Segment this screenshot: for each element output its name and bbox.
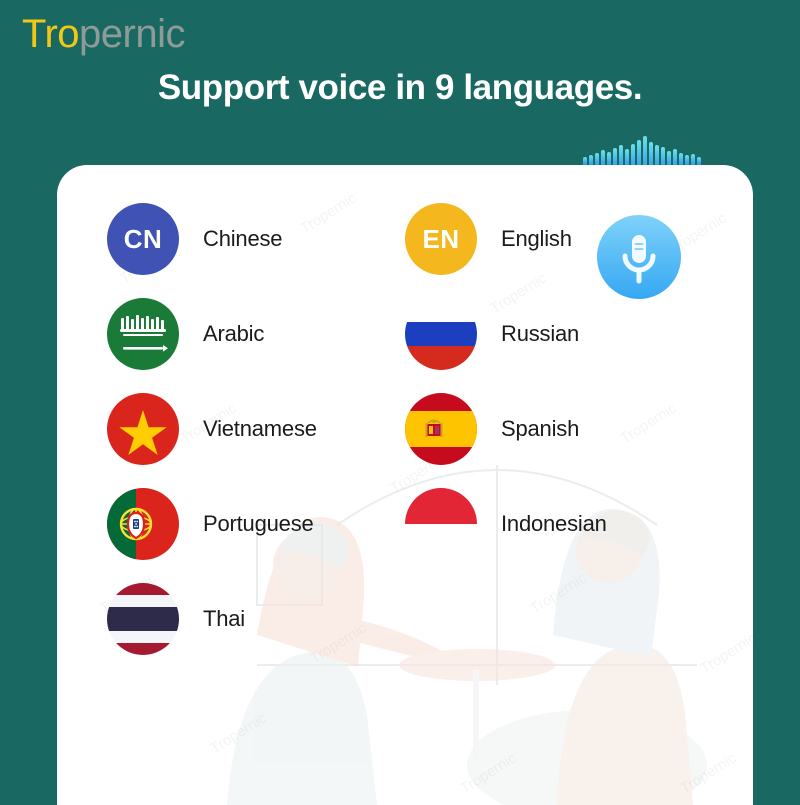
vietnam-flag <box>107 393 179 465</box>
language-name-label: Russian <box>501 321 579 347</box>
language-item-vietnamese[interactable]: Vietnamese <box>107 393 317 465</box>
page-headline: Support voice in 9 languages. <box>0 68 800 108</box>
languages-card: Tropernic Tropernic Tropernic Tropernic … <box>57 165 753 805</box>
thailand-flag <box>107 583 179 655</box>
brand-logo-part-one: Tro <box>22 12 79 56</box>
language-name-label: Vietnamese <box>203 416 317 442</box>
russia-flag <box>405 298 477 370</box>
language-item-indonesian[interactable]: Indonesian <box>405 488 607 560</box>
spain-flag <box>405 393 477 465</box>
language-item-portuguese[interactable]: Portuguese <box>107 488 314 560</box>
language-name-label: Indonesian <box>501 511 607 537</box>
language-item-chinese[interactable]: CNChinese <box>107 203 282 275</box>
brand-logo: Tropernic <box>22 14 185 54</box>
language-item-thai[interactable]: Thai <box>107 583 245 655</box>
microphone-button[interactable] <box>597 215 681 299</box>
microphone-icon <box>597 215 681 299</box>
language-name-label: Arabic <box>203 321 264 347</box>
language-item-russian[interactable]: Russian <box>405 298 579 370</box>
portugal-flag <box>107 488 179 560</box>
indonesia-flag <box>405 488 477 560</box>
language-code-label: EN <box>405 203 477 275</box>
language-name-label: English <box>501 226 572 252</box>
language-name-label: Spanish <box>501 416 579 442</box>
language-name-label: Thai <box>203 606 245 632</box>
saudi-arabia-flag <box>107 298 179 370</box>
language-code-label: CN <box>107 203 179 275</box>
language-name-label: Portuguese <box>203 511 314 537</box>
brand-logo-part-two: pernic <box>79 12 185 56</box>
english-en-badge: EN <box>405 203 477 275</box>
language-item-arabic[interactable]: Arabic <box>107 298 264 370</box>
language-item-english[interactable]: ENEnglish <box>405 203 572 275</box>
language-item-spanish[interactable]: Spanish <box>405 393 579 465</box>
china-cn-badge: CN <box>107 203 179 275</box>
language-name-label: Chinese <box>203 226 282 252</box>
